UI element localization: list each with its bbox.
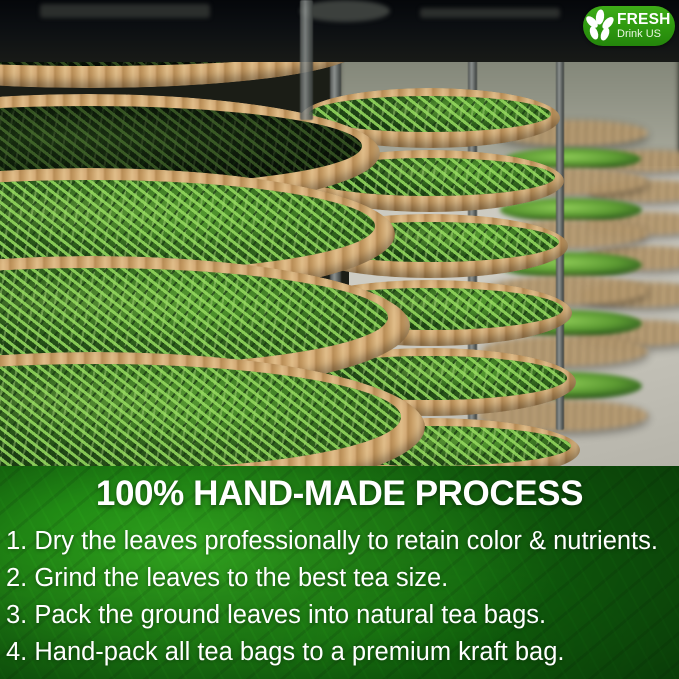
- process-step-1: 1. Dry the leaves professionally to reta…: [6, 523, 678, 560]
- logo-brand-name: FRESH: [617, 12, 671, 28]
- tea-drying-photo: [0, 0, 679, 466]
- logo-tagline: Drink US: [617, 29, 671, 40]
- banner-heading: 100% HAND-MADE PROCESS: [0, 474, 679, 514]
- overhead-equipment: [40, 4, 210, 18]
- overhead-equipment: [420, 8, 560, 18]
- overhead-equipment: [300, 0, 390, 22]
- leaf-cluster-icon: [583, 6, 617, 46]
- fresh-drink-us-logo[interactable]: FRESH Drink US: [583, 6, 675, 46]
- process-banner: 100% HAND-MADE PROCESS 1. Dry the leaves…: [0, 466, 679, 679]
- process-step-4: 4. Hand-pack all tea bags to a premium k…: [6, 634, 678, 671]
- process-step-2: 2. Grind the leaves to the best tea size…: [6, 560, 678, 597]
- tea-tray-foreground: [0, 352, 425, 466]
- process-step-list: 1. Dry the leaves professionally to reta…: [6, 523, 678, 671]
- product-infographic-card: FRESH Drink US 100% HAND-MADE PROCESS 1.…: [0, 0, 679, 679]
- rack-post: [300, 0, 313, 120]
- process-step-3: 3. Pack the ground leaves into natural t…: [6, 597, 678, 634]
